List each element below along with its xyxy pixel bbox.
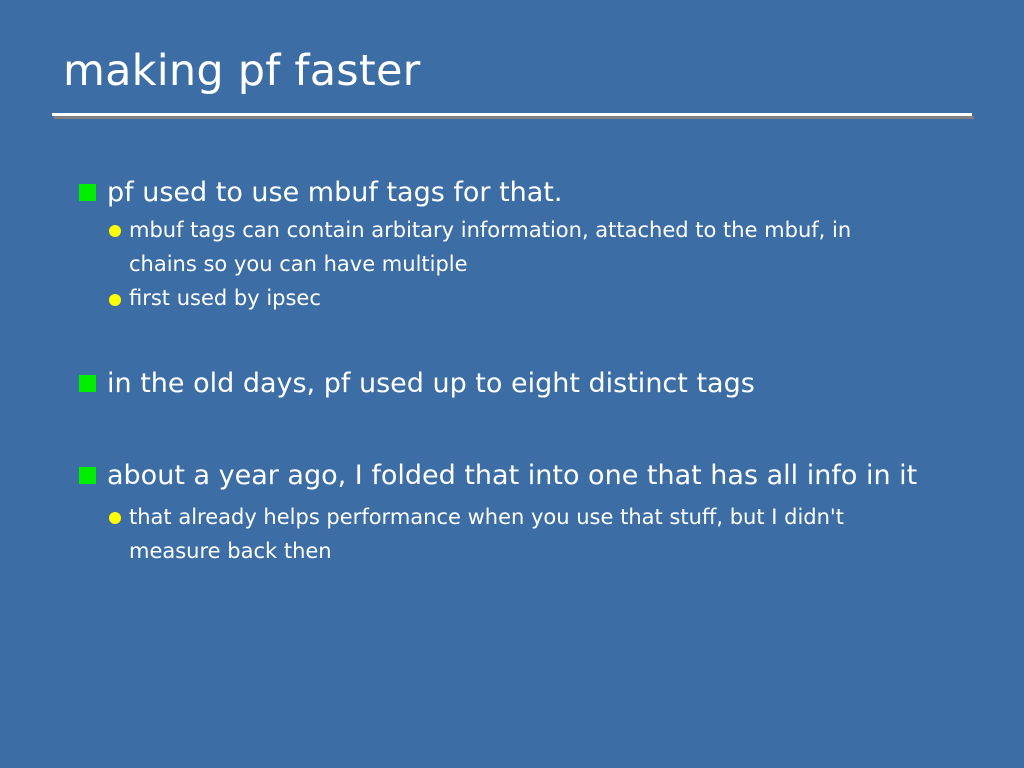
yellow-dot-bullet-icon	[109, 225, 121, 237]
bullet-group-spacer	[0, 315, 1024, 363]
bullet-level1-item: pf used to use mbuf tags for that.	[0, 172, 1024, 213]
green-square-bullet-icon	[79, 184, 96, 201]
bullet-text: first used by ipsec	[129, 286, 321, 310]
green-square-bullet-icon	[79, 375, 96, 392]
bullet-level2-item: first used by ipsec	[0, 281, 1024, 315]
bullet-text: mbuf tags can contain arbitary informati…	[129, 218, 851, 276]
bullet-group-spacer	[0, 405, 1024, 455]
slide-title-block: making pf faster	[52, 48, 972, 94]
yellow-dot-bullet-icon	[109, 294, 121, 306]
bullet-level2-item: mbuf tags can contain arbitary informati…	[0, 213, 1024, 281]
bullet-level1-item: about a year ago, I folded that into one…	[0, 455, 1024, 496]
bullet-level2-item: that already helps performance when you …	[0, 500, 1024, 568]
yellow-dot-bullet-icon	[109, 512, 121, 524]
page-title: making pf faster	[52, 48, 972, 94]
green-square-bullet-icon	[79, 467, 96, 484]
bullet-text: about a year ago, I folded that into one…	[107, 460, 917, 491]
bullet-group-2: in the old days, pf used up to eight dis…	[0, 363, 1024, 404]
bullet-text: pf used to use mbuf tags for that.	[107, 177, 562, 208]
bullet-group-3: about a year ago, I folded that into one…	[0, 455, 1024, 568]
title-underline-rule-shadow	[54, 116, 974, 119]
bullet-level1-item: in the old days, pf used up to eight dis…	[0, 363, 1024, 404]
bullet-group-1: pf used to use mbuf tags for that. mbuf …	[0, 172, 1024, 315]
slide-body: pf used to use mbuf tags for that. mbuf …	[0, 172, 1024, 568]
bullet-text: that already helps performance when you …	[129, 505, 844, 563]
presentation-slide: making pf faster pf used to use mbuf tag…	[0, 0, 1024, 768]
bullet-text: in the old days, pf used up to eight dis…	[107, 368, 755, 399]
